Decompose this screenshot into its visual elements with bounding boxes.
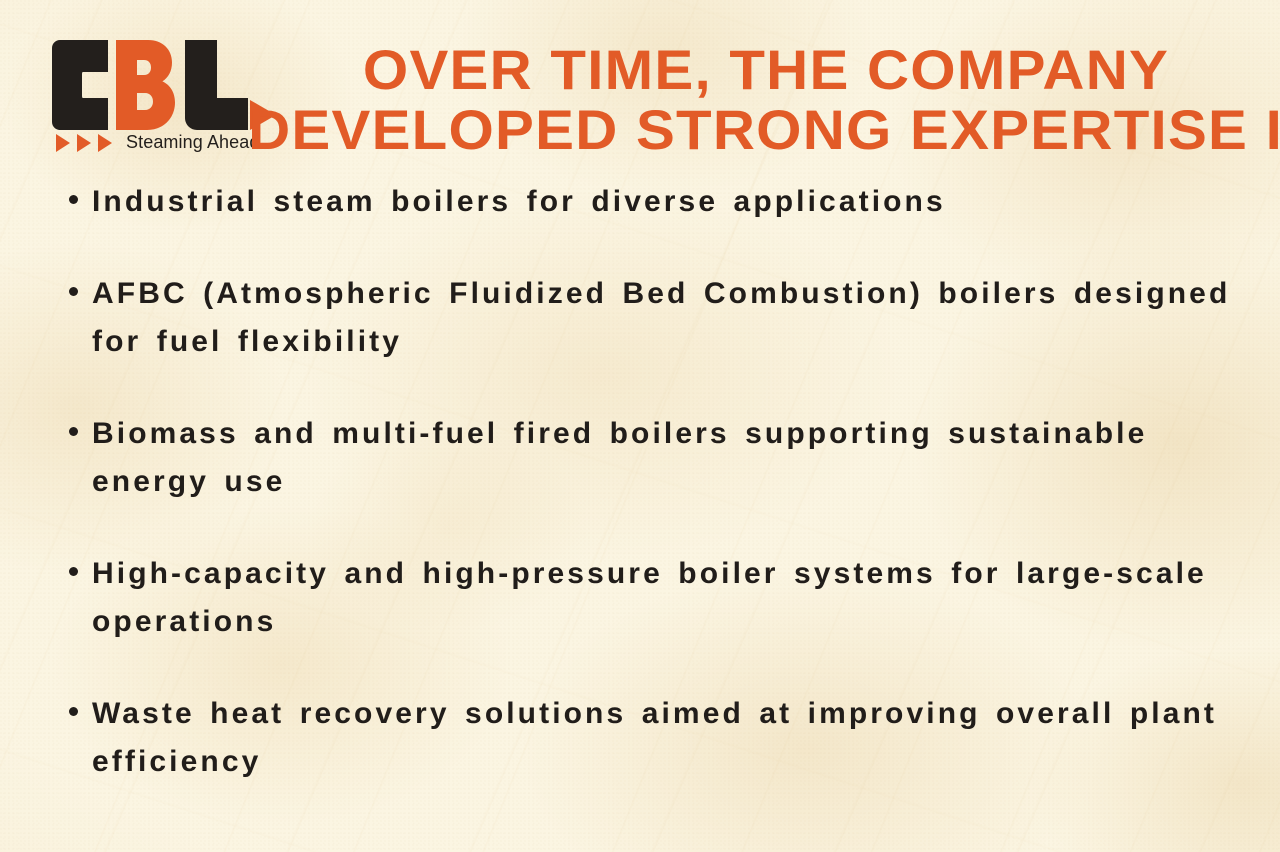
slide-content: Steaming Ahead OVER TIME, THE COMPANY DE… xyxy=(0,0,1280,852)
list-item: Waste heat recovery solutions aimed at i… xyxy=(62,690,1252,786)
bullet-dot-icon xyxy=(69,287,78,296)
logo-arrow-group xyxy=(56,134,112,152)
title-line-2: DEVELOPED STRONG EXPERTISE IN: xyxy=(248,100,1280,160)
list-item: Biomass and multi-fuel fired boilers sup… xyxy=(62,410,1252,506)
slide-canvas: Steaming Ahead OVER TIME, THE COMPANY DE… xyxy=(0,0,1280,852)
bullet-dot-icon xyxy=(69,567,78,576)
list-item-label: AFBC (Atmospheric Fluidized Bed Combusti… xyxy=(92,277,1230,358)
triangle-right-icon xyxy=(98,134,112,152)
slide-header: Steaming Ahead OVER TIME, THE COMPANY DE… xyxy=(0,0,1280,176)
list-item: Industrial steam boilers for diverse app… xyxy=(62,178,1252,226)
triangle-right-icon xyxy=(56,134,70,152)
slide-title: OVER TIME, THE COMPANY DEVELOPED STRONG … xyxy=(268,40,1264,160)
list-item-label: Industrial steam boilers for diverse app… xyxy=(92,185,946,218)
expertise-bullet-list: Industrial steam boilers for diverse app… xyxy=(62,178,1252,786)
triangle-right-icon xyxy=(77,134,91,152)
title-line-1: OVER TIME, THE COMPANY xyxy=(248,40,1280,100)
logo-tagline-row: Steaming Ahead xyxy=(56,132,260,153)
list-item-label: High-capacity and high-pressure boiler s… xyxy=(92,557,1207,638)
logo-letter-c-bowl xyxy=(52,40,104,130)
bullet-dot-icon xyxy=(69,195,78,204)
bullet-dot-icon xyxy=(69,427,78,436)
logo-letter-b xyxy=(116,40,175,130)
list-item: High-capacity and high-pressure boiler s… xyxy=(62,550,1252,646)
bullet-dot-icon xyxy=(69,707,78,716)
list-item: AFBC (Atmospheric Fluidized Bed Combusti… xyxy=(62,270,1252,366)
logo-tagline: Steaming Ahead xyxy=(126,132,260,153)
list-item-label: Biomass and multi-fuel fired boilers sup… xyxy=(92,417,1147,498)
list-item-label: Waste heat recovery solutions aimed at i… xyxy=(92,697,1217,778)
logo-letter-l xyxy=(185,40,248,130)
